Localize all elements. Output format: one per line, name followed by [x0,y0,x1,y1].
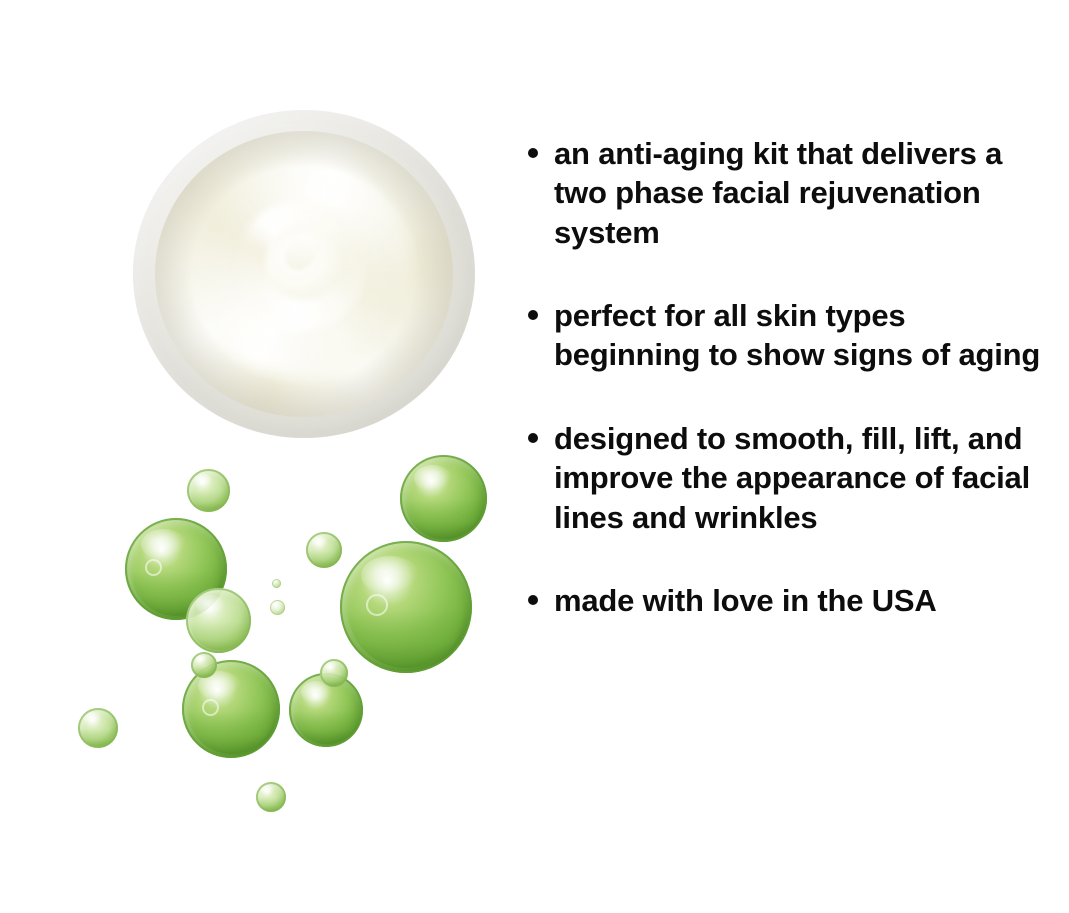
bubble-bottom-cap [191,652,217,678]
bubble-center-xlarge [340,541,472,673]
bullet-marker-icon [528,148,538,158]
droplet-inner-bubble [202,699,219,716]
droplet-rim [400,455,487,542]
droplet-rim [306,532,342,568]
droplet-rim [270,600,285,615]
bubble-top-right-large [400,455,487,542]
feature-bullet-list: an anti-aging kit that delivers a two ph… [528,134,1058,664]
bubble-micro-b [270,600,285,615]
bullet-anti-aging-kit: an anti-aging kit that delivers a two ph… [554,134,1054,252]
bubble-left-mid [186,588,251,653]
droplet-rim [191,652,217,678]
droplet-rim [340,541,472,673]
droplet-inner-bubble [366,594,388,616]
droplet-rim [256,782,286,812]
droplet-rim [186,588,251,653]
list-item: made with love in the USA [528,581,1058,620]
list-item: designed to smooth, fill, lift, and impr… [528,419,1058,537]
jar-rim-shading [133,110,475,438]
droplet-rim [272,579,281,588]
bullet-marker-icon [528,595,538,605]
cream-jar-image [133,110,475,438]
list-item: an anti-aging kit that delivers a two ph… [528,134,1058,252]
green-serum-droplets [60,450,520,850]
bullet-marker-icon [528,433,538,443]
bullet-smooth-fill-lift: designed to smooth, fill, lift, and impr… [554,419,1054,537]
bubble-bottom-right-cap [320,659,348,687]
bullet-all-skin-types: perfect for all skin types beginning to … [554,296,1054,375]
bubble-bottom-left-tiny [78,708,118,748]
droplet-rim [187,469,230,512]
bubble-top-small [187,469,230,512]
droplet-inner-bubble [145,559,162,576]
bullet-marker-icon [528,310,538,320]
droplet-rim [320,659,348,687]
bubble-bottom-lone [256,782,286,812]
bubble-micro-a [272,579,281,588]
product-feature-graphic: an anti-aging kit that delivers a two ph… [0,0,1069,913]
bubble-mid-small [306,532,342,568]
list-item: perfect for all skin types beginning to … [528,296,1058,375]
droplet-rim [78,708,118,748]
bullet-made-in-usa: made with love in the USA [554,581,937,620]
